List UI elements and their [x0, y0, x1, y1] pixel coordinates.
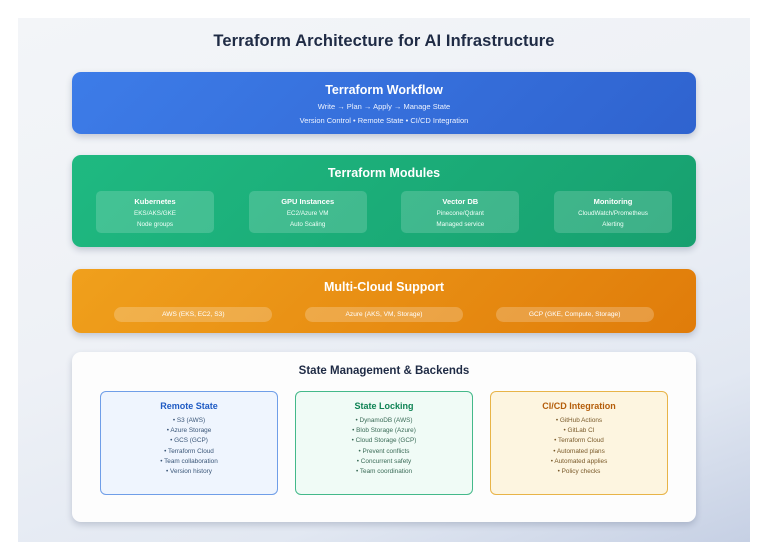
- state-card-item: • GCS (GCP): [101, 437, 277, 444]
- module-title: GPU Instances: [249, 197, 367, 206]
- module-title: Monitoring: [554, 197, 672, 206]
- workflow-features: Version Control • Remote State • CI/CD I…: [72, 116, 696, 125]
- module-card-gpu-instances[interactable]: GPU Instances EC2/Azure VM Auto Scaling: [249, 191, 367, 233]
- state-management-title: State Management & Backends: [72, 365, 696, 377]
- state-card-item: • Prevent conflicts: [296, 448, 472, 455]
- state-card-item: • Cloud Storage (GCP): [296, 437, 472, 444]
- module-title: Kubernetes: [96, 197, 214, 206]
- state-card-item: • Version history: [101, 468, 277, 475]
- state-card-item: • Terraform Cloud: [491, 437, 667, 444]
- workflow-steps: Write → Plan → Apply → Manage State: [72, 102, 696, 111]
- module-title: Vector DB: [401, 197, 519, 206]
- state-card-item: • Automated plans: [491, 448, 667, 455]
- state-card-item: • Team coordination: [296, 468, 472, 475]
- workflow-title: Terraform Workflow: [72, 83, 696, 97]
- module-line-1: EKS/AKS/GKE: [96, 210, 214, 217]
- module-line-1: EC2/Azure VM: [249, 210, 367, 217]
- module-line-1: CloudWatch/Prometheus: [554, 210, 672, 217]
- state-card-item: • Concurrent safety: [296, 458, 472, 465]
- cloud-pill-aws[interactable]: AWS (EKS, EC2, S3): [114, 307, 272, 322]
- cloud-pill-azure[interactable]: Azure (AKS, VM, Storage): [305, 307, 463, 322]
- page-title: Terraform Architecture for AI Infrastruc…: [18, 32, 750, 51]
- state-card-item: • S3 (AWS): [101, 417, 277, 424]
- modules-title: Terraform Modules: [72, 166, 696, 180]
- state-card-item: • Team collaboration: [101, 458, 277, 465]
- multicloud-band: Multi-Cloud Support AWS (EKS, EC2, S3) A…: [72, 269, 696, 333]
- module-card-kubernetes[interactable]: Kubernetes EKS/AKS/GKE Node groups: [96, 191, 214, 233]
- state-card-item: • GitHub Actions: [491, 417, 667, 424]
- module-line-1: Pinecone/Qdrant: [401, 210, 519, 217]
- state-card-item: • Blob Storage (Azure): [296, 427, 472, 434]
- diagram-canvas: Terraform Architecture for AI Infrastruc…: [18, 18, 750, 542]
- module-card-row: Kubernetes EKS/AKS/GKE Node groups GPU I…: [96, 191, 672, 233]
- state-card-item: • DynamoDB (AWS): [296, 417, 472, 424]
- workflow-band: Terraform Workflow Write → Plan → Apply …: [72, 72, 696, 134]
- cloud-pill-row: AWS (EKS, EC2, S3) Azure (AKS, VM, Stora…: [98, 307, 670, 322]
- module-line-2: Node groups: [96, 221, 214, 228]
- state-card-state-locking[interactable]: State Locking • DynamoDB (AWS) • Blob St…: [295, 391, 473, 495]
- state-card-remote-state[interactable]: Remote State • S3 (AWS) • Azure Storage …: [100, 391, 278, 495]
- module-card-monitoring[interactable]: Monitoring CloudWatch/Prometheus Alertin…: [554, 191, 672, 233]
- state-card-cicd-integration[interactable]: CI/CD Integration • GitHub Actions • Git…: [490, 391, 668, 495]
- modules-band: Terraform Modules Kubernetes EKS/AKS/GKE…: [72, 155, 696, 247]
- state-card-item: • Azure Storage: [101, 427, 277, 434]
- state-card-title: Remote State: [101, 401, 277, 411]
- module-line-2: Managed service: [401, 221, 519, 228]
- state-card-item: • Policy checks: [491, 468, 667, 475]
- state-card-item: • Terraform Cloud: [101, 448, 277, 455]
- module-card-vector-db[interactable]: Vector DB Pinecone/Qdrant Managed servic…: [401, 191, 519, 233]
- module-line-2: Auto Scaling: [249, 221, 367, 228]
- state-card-item: • GitLab CI: [491, 427, 667, 434]
- state-card-title: State Locking: [296, 401, 472, 411]
- module-line-2: Alerting: [554, 221, 672, 228]
- state-management-panel: State Management & Backends Remote State…: [72, 352, 696, 522]
- state-card-title: CI/CD Integration: [491, 401, 667, 411]
- state-card-row: Remote State • S3 (AWS) • Azure Storage …: [100, 391, 668, 495]
- state-card-item: • Automated applies: [491, 458, 667, 465]
- cloud-pill-gcp[interactable]: GCP (GKE, Compute, Storage): [496, 307, 654, 322]
- multicloud-title: Multi-Cloud Support: [72, 280, 696, 294]
